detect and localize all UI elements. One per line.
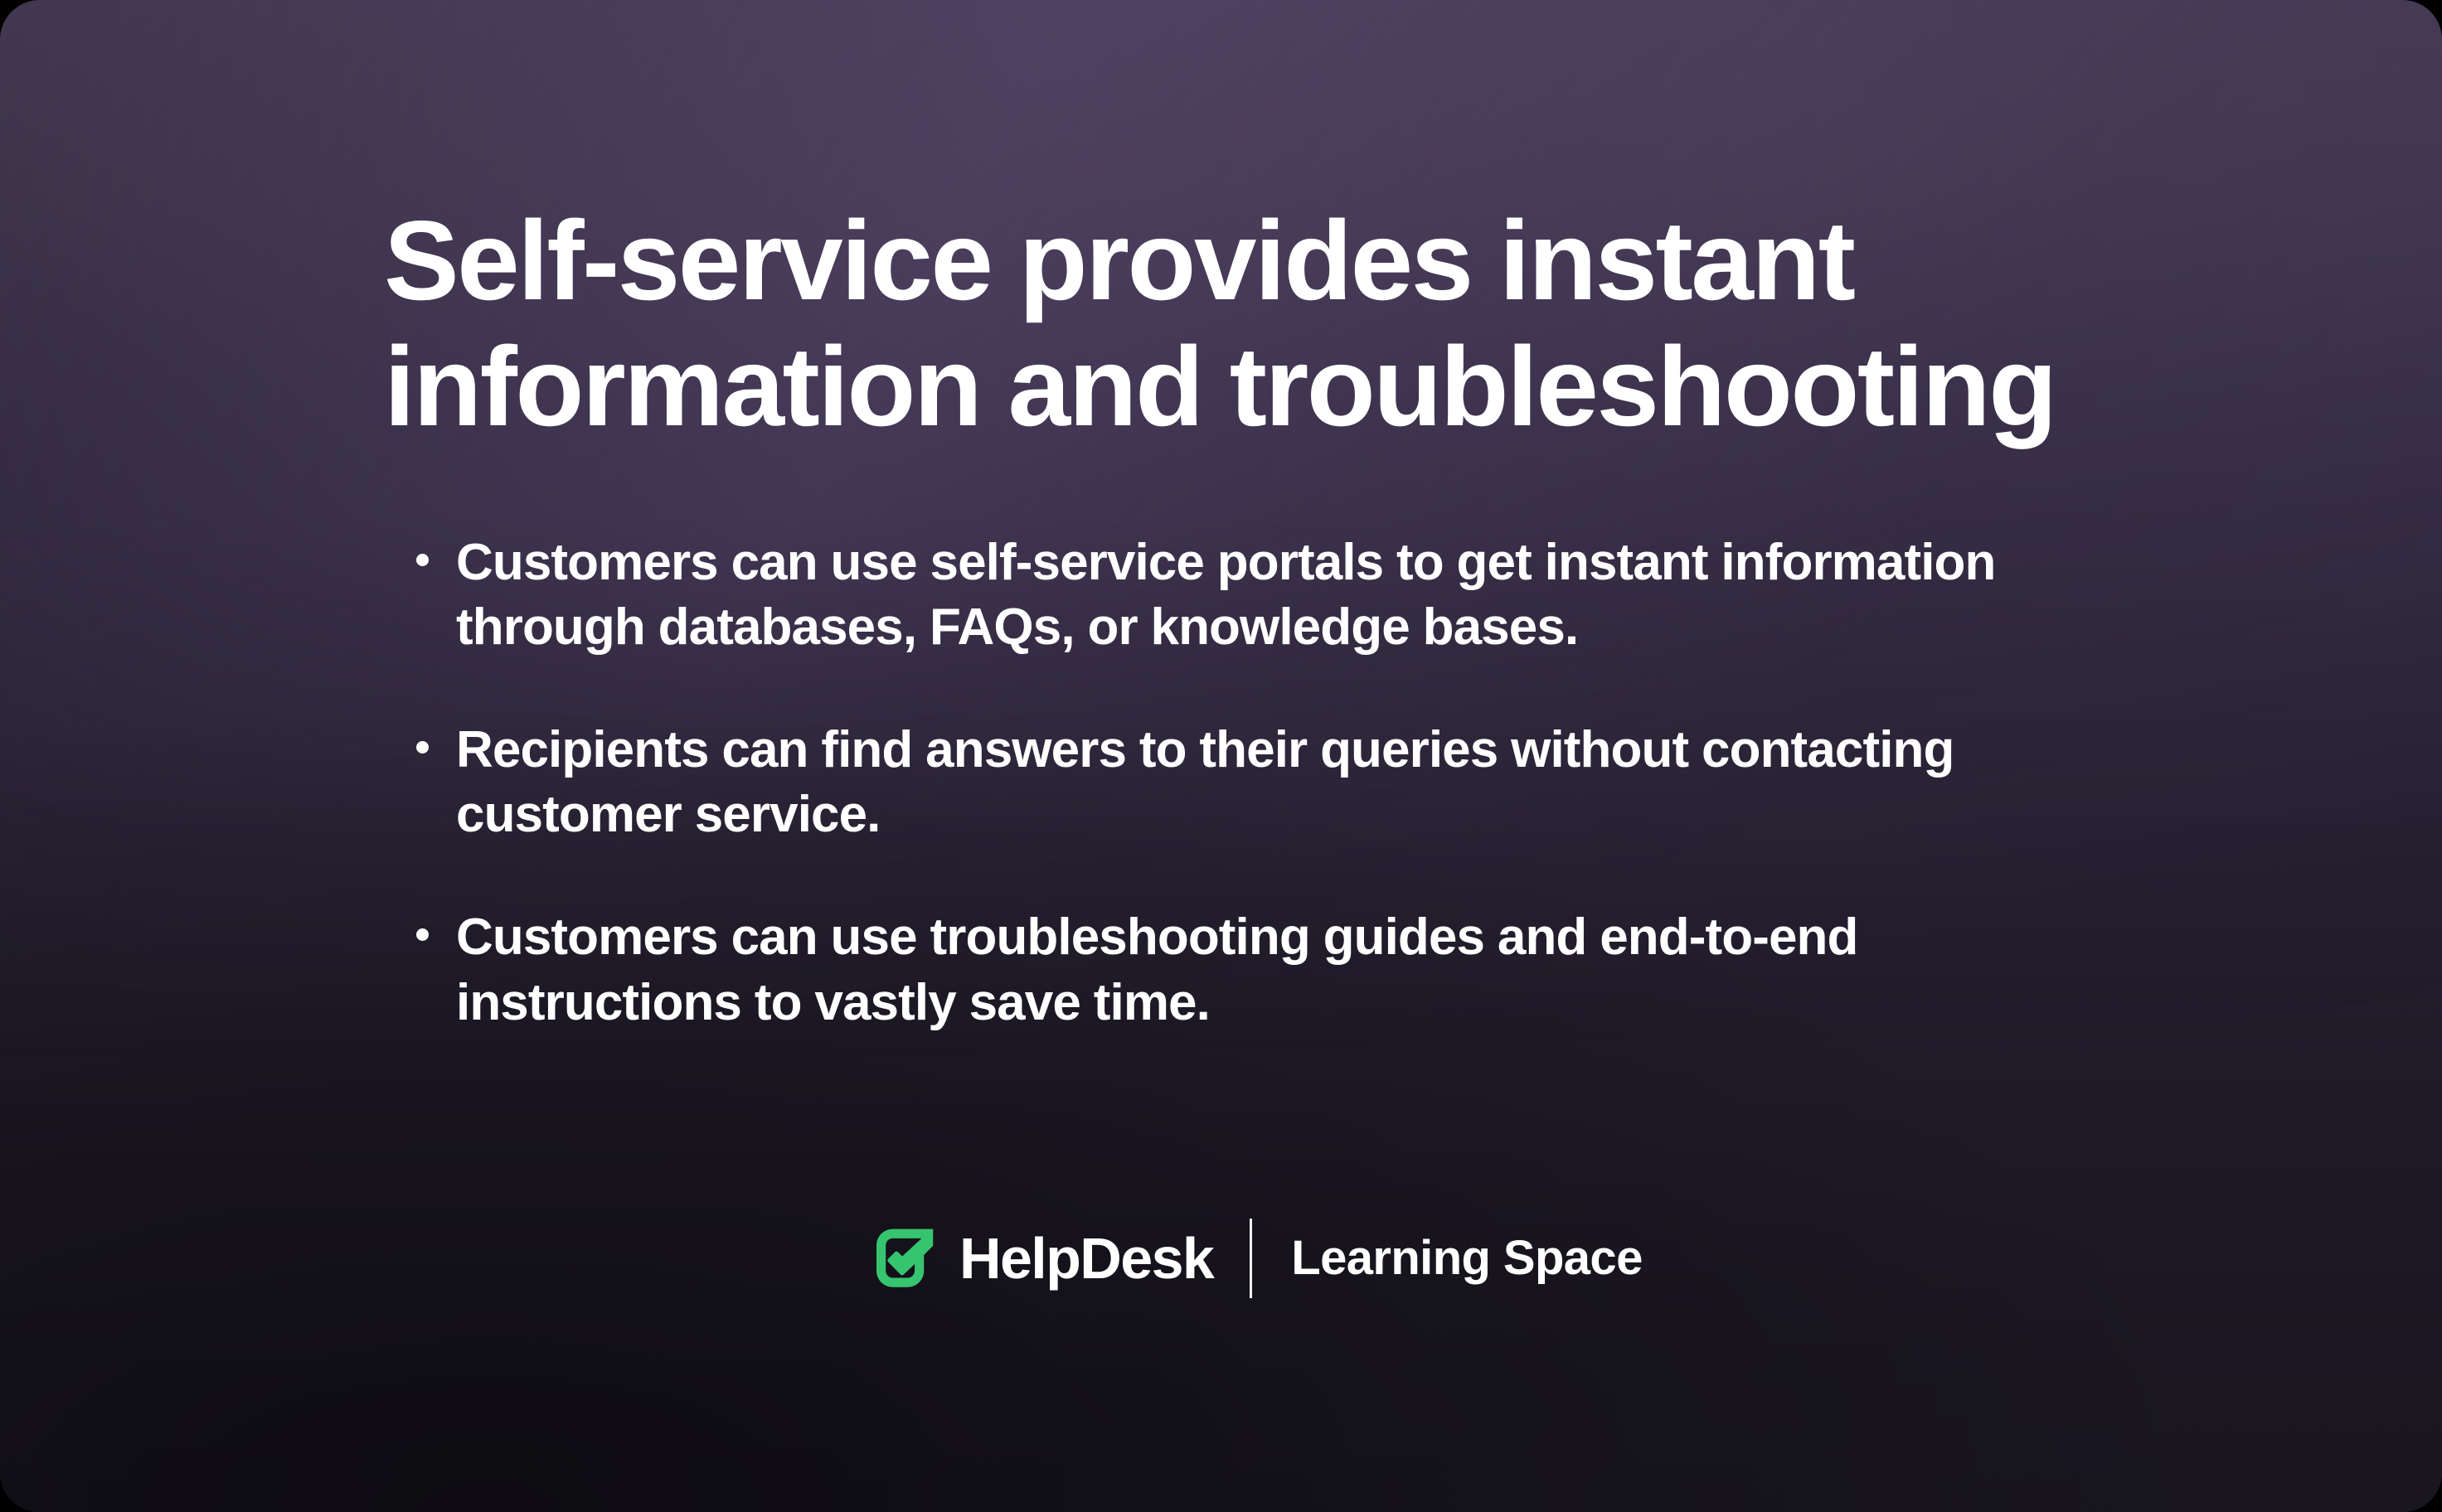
bullet-text: Recipients can find answers to their que… xyxy=(456,721,1954,843)
slide-headline: Self-service provides instant informatio… xyxy=(384,197,2192,450)
presentation-slide: Self-service provides instant informatio… xyxy=(0,0,2442,1512)
bullet-dot-icon xyxy=(416,741,429,754)
list-item: Customers can use troubleshooting guides… xyxy=(410,905,2109,1035)
helpdesk-logo: HelpDesk xyxy=(876,1226,1213,1291)
bullet-text: Customers can use troubleshooting guides… xyxy=(456,909,1858,1030)
helpdesk-check-square-icon xyxy=(876,1226,941,1291)
list-item: Recipients can find answers to their que… xyxy=(410,718,2109,847)
slide-content: Self-service provides instant informatio… xyxy=(0,0,2442,1512)
bullet-dot-icon xyxy=(416,928,429,941)
bullet-list: Customers can use self-service portals t… xyxy=(410,531,2109,1035)
footer-brand-lockup: HelpDesk Learning Space xyxy=(876,1212,1643,1305)
list-item: Customers can use self-service portals t… xyxy=(410,531,2109,660)
learning-space-label: Learning Space xyxy=(1291,1234,1643,1282)
bullet-text: Customers can use self-service portals t… xyxy=(456,534,1996,656)
lockup-divider xyxy=(1250,1219,1252,1298)
helpdesk-wordmark: HelpDesk xyxy=(959,1229,1213,1287)
bullet-dot-icon xyxy=(416,554,429,566)
